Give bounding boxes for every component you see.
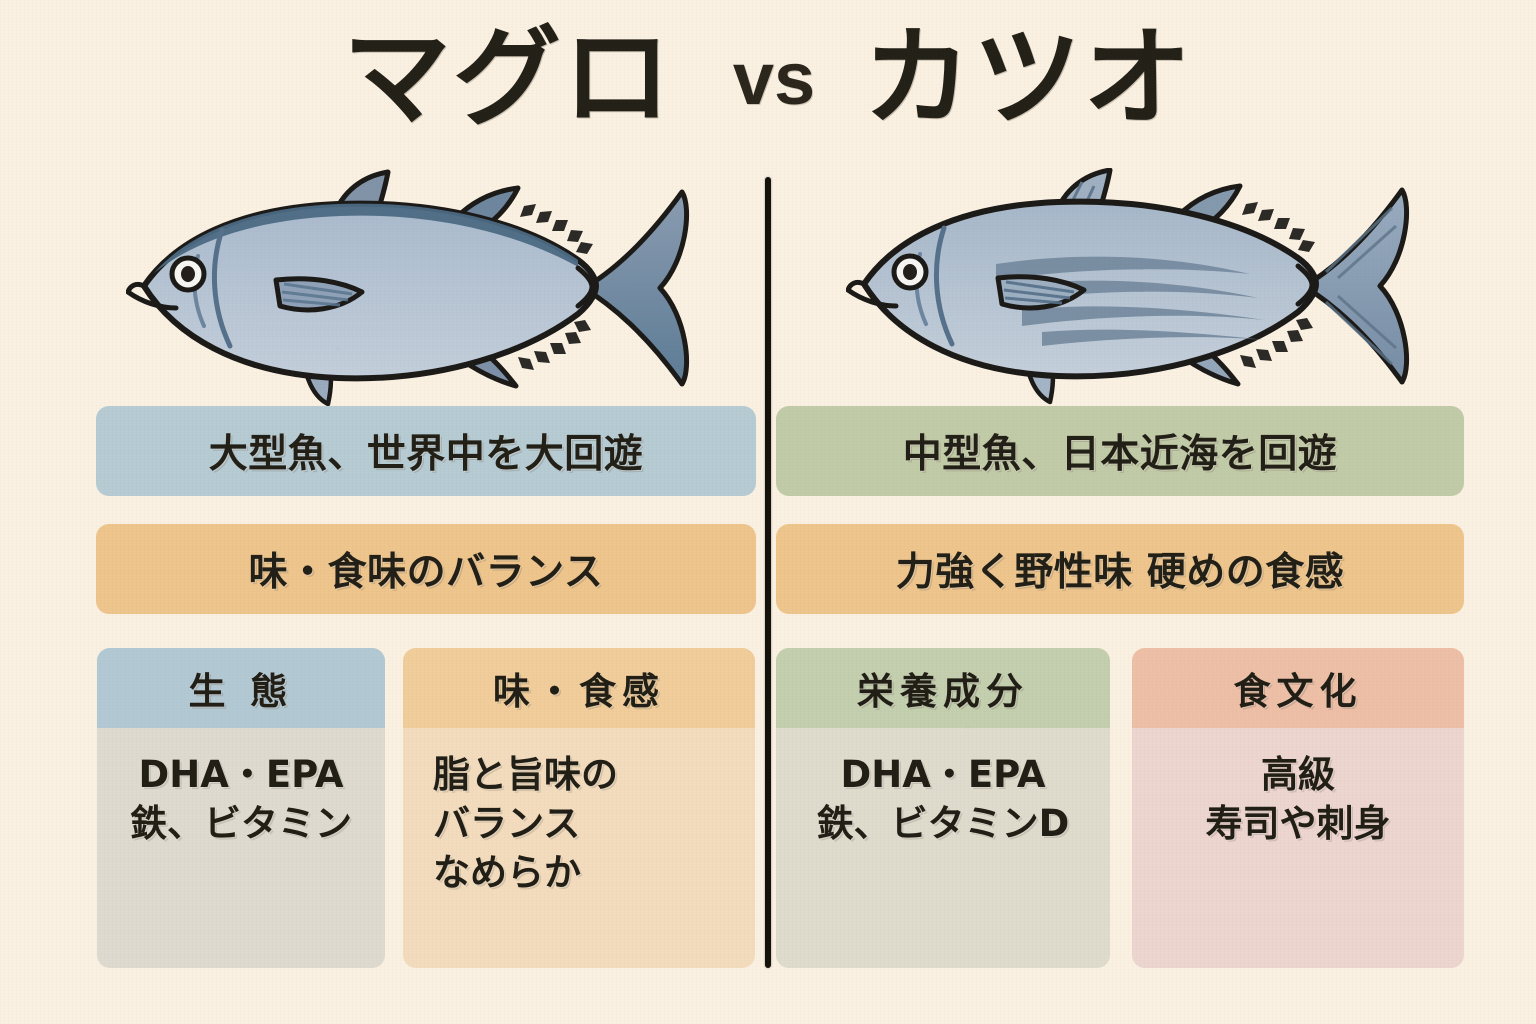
taste-text-left: 味・食味のバランス <box>249 541 604 597</box>
card-ecology-body: DHA・EPA 鉄、ビタミン <box>97 728 385 968</box>
card-taste-texture-line-1: 脂と旨味の <box>433 750 618 799</box>
card-taste-texture: 味・食感 脂と旨味の バランス なめらか <box>403 648 755 968</box>
card-taste-texture-line-2: バランス <box>433 799 580 848</box>
card-ecology-header: 生 態 <box>97 648 385 728</box>
card-taste-texture-header: 味・食感 <box>403 648 755 728</box>
taste-bar-right: 力強く野性味 硬めの食感 <box>776 524 1464 614</box>
card-ecology-line-1: DHA・EPA <box>139 750 344 799</box>
card-taste-texture-body: 脂と旨味の バランス なめらか <box>403 728 755 968</box>
card-ecology-title: 生 態 <box>189 661 294 715</box>
infographic-canvas: マグロ vs カツオ <box>0 0 1536 1024</box>
card-food-culture-title: 食文化 <box>1234 661 1363 715</box>
taste-bar-left: 味・食味のバランス <box>96 524 756 614</box>
habitat-bar-left: 大型魚、世界中を大回遊 <box>96 406 756 496</box>
card-nutrition-title: 栄養成分 <box>857 661 1029 715</box>
habitat-text-left: 大型魚、世界中を大回遊 <box>209 423 644 479</box>
title-vs-label: vs <box>733 42 815 116</box>
tuna-illustration <box>126 168 746 406</box>
bonito-illustration <box>846 168 1466 406</box>
card-nutrition-line-2: 鉄、ビタミンD <box>817 799 1070 848</box>
card-taste-texture-line-3: なめらか <box>433 848 581 897</box>
center-divider <box>765 177 771 968</box>
habitat-text-right: 中型魚、日本近海を回遊 <box>903 423 1338 479</box>
card-food-culture-line-2: 寿司や刺身 <box>1206 799 1391 848</box>
page-title: マグロ vs カツオ <box>0 16 1536 142</box>
card-nutrition-line-1: DHA・EPA <box>841 750 1046 799</box>
card-nutrition: 栄養成分 DHA・EPA 鉄、ビタミンD <box>776 648 1110 968</box>
card-nutrition-body: DHA・EPA 鉄、ビタミンD <box>776 728 1110 968</box>
card-nutrition-header: 栄養成分 <box>776 648 1110 728</box>
card-food-culture-header: 食文化 <box>1132 648 1464 728</box>
card-food-culture-body: 高級 寿司や刺身 <box>1132 728 1464 968</box>
card-ecology-line-2: 鉄、ビタミン <box>130 799 352 848</box>
card-food-culture: 食文化 高級 寿司や刺身 <box>1132 648 1464 968</box>
card-taste-texture-title: 味・食感 <box>493 661 665 715</box>
card-food-culture-line-1: 高級 <box>1261 750 1335 799</box>
card-ecology: 生 態 DHA・EPA 鉄、ビタミン <box>97 648 385 968</box>
title-right-species: カツオ <box>863 25 1193 133</box>
taste-text-right: 力強く野性味 硬めの食感 <box>896 541 1345 597</box>
title-left-species: マグロ <box>343 25 673 133</box>
habitat-bar-right: 中型魚、日本近海を回遊 <box>776 406 1464 496</box>
